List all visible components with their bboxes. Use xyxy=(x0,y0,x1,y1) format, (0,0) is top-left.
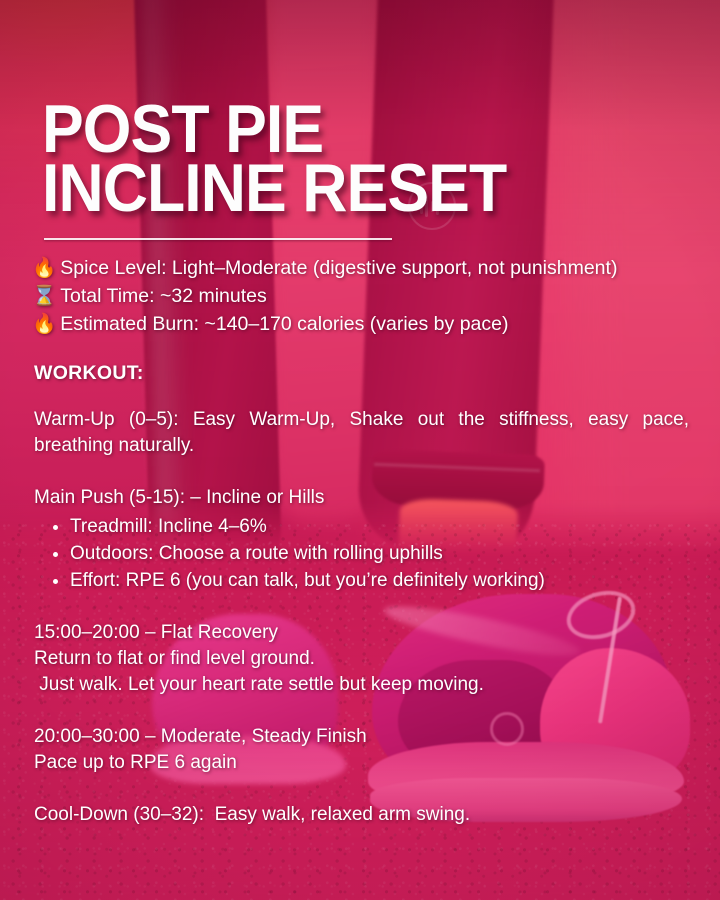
poster-content: POST PIE INCLINE RESET 🔥Spice Level: Lig… xyxy=(0,0,720,900)
cooldown-block: Cool-Down (30–32): Easy walk, relaxed ar… xyxy=(34,802,689,828)
page-title: POST PIE INCLINE RESET xyxy=(42,100,506,220)
cooldown-text: Cool-Down (30–32): Easy walk, relaxed ar… xyxy=(34,802,689,828)
stat-total-time-text: Total Time: ~32 minutes xyxy=(60,285,266,307)
title-line-2: INCLINE RESET xyxy=(42,159,506,219)
finish-line-1: Pace up to RPE 6 again xyxy=(34,750,689,776)
list-item: Effort: RPE 6 (you can talk, but you’re … xyxy=(70,567,689,594)
divider xyxy=(44,238,392,240)
recovery-line-1: Return to flat or find level ground. xyxy=(34,646,689,672)
finish-heading: 20:00–30:00 – Moderate, Steady Finish xyxy=(34,724,689,750)
main-push-bullets: Treadmill: Incline 4–6% Outdoors: Choose… xyxy=(34,513,689,594)
stat-total-time: ⌛Total Time: ~32 minutes xyxy=(32,282,692,310)
fire-icon: 🔥 xyxy=(32,256,56,279)
main-push-block: Main Push (5-15): – Incline or Hills Tre… xyxy=(34,485,689,594)
list-item: Outdoors: Choose a route with rolling up… xyxy=(70,540,689,567)
recovery-line-2: Just walk. Let your heart rate settle bu… xyxy=(34,672,689,698)
workout-body: WORKOUT: Warm-Up (0–5): Easy Warm-Up, Sh… xyxy=(34,362,689,828)
warmup-block: Warm-Up (0–5): Easy Warm-Up, Shake out t… xyxy=(34,407,689,459)
stats-list: 🔥Spice Level: Light–Moderate (digestive … xyxy=(32,254,692,338)
main-push-heading: Main Push (5-15): – Incline or Hills xyxy=(34,485,689,511)
fire-icon: 🔥 xyxy=(32,312,56,335)
workout-heading: WORKOUT: xyxy=(34,362,689,385)
finish-block: 20:00–30:00 – Moderate, Steady Finish Pa… xyxy=(34,724,689,776)
list-item: Treadmill: Incline 4–6% xyxy=(70,513,689,540)
workout-poster: POST PIE INCLINE RESET 🔥Spice Level: Lig… xyxy=(0,0,720,900)
stat-spice-level-text: Spice Level: Light–Moderate (digestive s… xyxy=(60,257,617,279)
recovery-block: 15:00–20:00 – Flat Recovery Return to fl… xyxy=(34,620,689,698)
stat-spice-level: 🔥Spice Level: Light–Moderate (digestive … xyxy=(32,254,692,282)
stat-estimated-burn: 🔥Estimated Burn: ~140–170 calories (vari… xyxy=(32,310,692,338)
warmup-text: Warm-Up (0–5): Easy Warm-Up, Shake out t… xyxy=(34,407,689,459)
stat-estimated-burn-text: Estimated Burn: ~140–170 calories (varie… xyxy=(60,313,508,335)
hourglass-icon: ⌛ xyxy=(32,284,56,307)
recovery-heading: 15:00–20:00 – Flat Recovery xyxy=(34,620,689,646)
